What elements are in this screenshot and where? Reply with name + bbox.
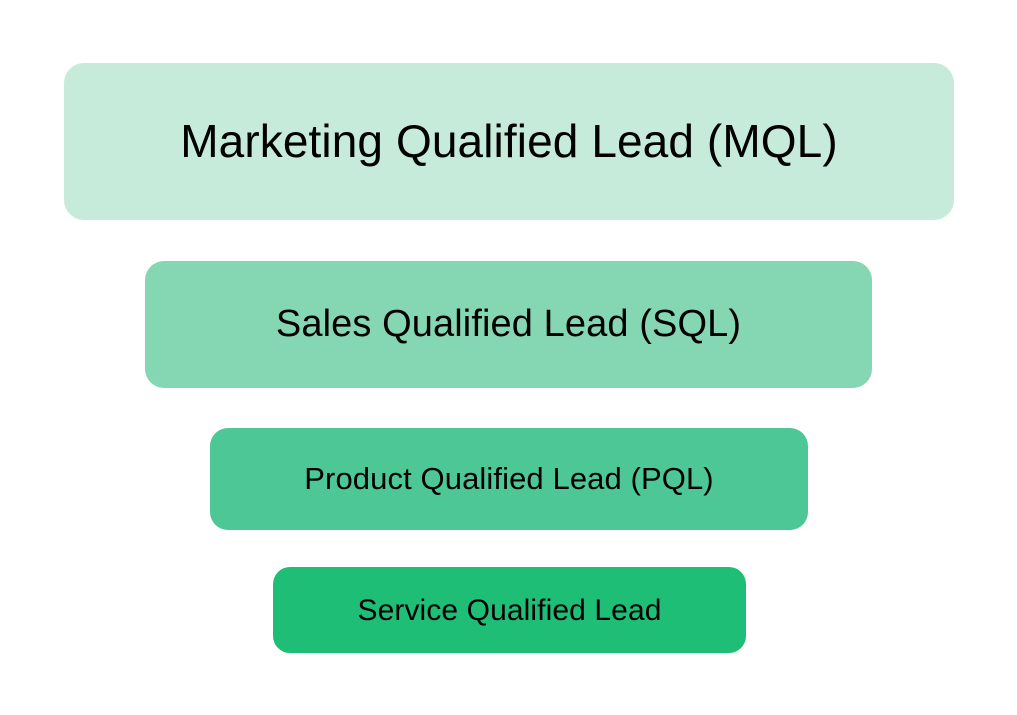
funnel-stage-service-qualified-lead[interactable]: Service Qualified Lead xyxy=(273,567,746,653)
funnel-diagram: Marketing Qualified Lead (MQL) Sales Qua… xyxy=(0,0,1017,715)
funnel-stage-label: Marketing Qualified Lead (MQL) xyxy=(180,116,838,167)
funnel-stage-mql[interactable]: Marketing Qualified Lead (MQL) xyxy=(64,63,954,220)
funnel-stage-pql[interactable]: Product Qualified Lead (PQL) xyxy=(210,428,808,530)
funnel-stage-sql[interactable]: Sales Qualified Lead (SQL) xyxy=(145,261,872,388)
funnel-stage-label: Service Qualified Lead xyxy=(357,594,661,627)
funnel-stage-label: Product Qualified Lead (PQL) xyxy=(304,462,713,496)
funnel-stage-label: Sales Qualified Lead (SQL) xyxy=(276,304,741,346)
